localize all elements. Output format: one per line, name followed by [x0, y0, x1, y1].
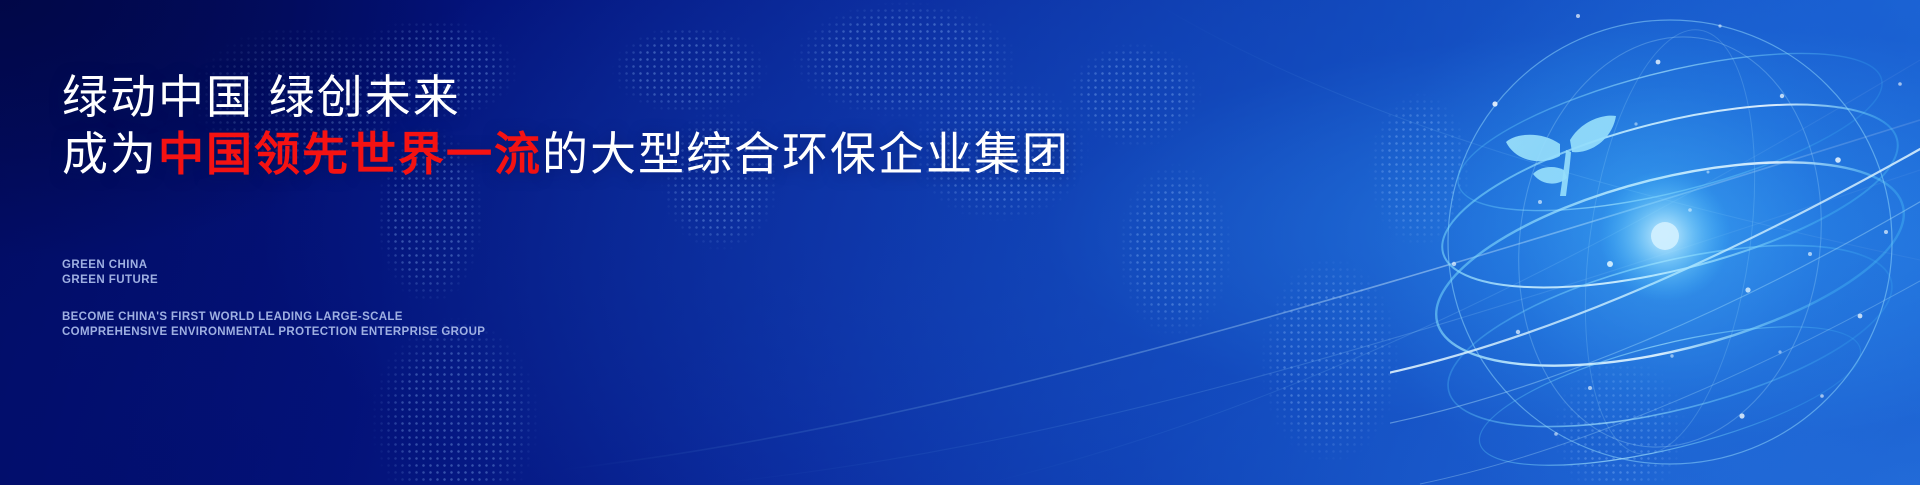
globe-core-dot	[1651, 222, 1679, 250]
globe-core-shine	[1599, 170, 1731, 302]
hero-banner: 绿动中国 绿创未来 成为中国领先世界一流的大型综合环保企业集团 GREEN CH…	[0, 0, 1920, 485]
globe-outline	[1448, 20, 1892, 464]
globe-svg	[1390, 0, 1920, 485]
english-subtitle-line-1: BECOME CHINA'S FIRST WORLD LEADING LARGE…	[62, 310, 485, 325]
english-tagline-line-1: GREEN CHINA	[62, 258, 158, 273]
headline-line-2-highlight: 中国领先世界一流	[158, 128, 542, 180]
headline-line-2-suffix: 的大型综合环保企业集团	[542, 128, 1070, 180]
globe-outer-glow	[1360, 0, 1920, 485]
english-tagline: GREEN CHINA GREEN FUTURE	[62, 258, 158, 288]
headline-line-2-prefix: 成为	[62, 128, 158, 180]
headline-line-1: 绿动中国 绿创未来	[62, 74, 1112, 120]
headline-block: 绿动中国 绿创未来 成为中国领先世界一流的大型综合环保企业集团	[62, 74, 1112, 180]
english-tagline-line-2: GREEN FUTURE	[62, 273, 158, 288]
globe-graphic	[1390, 0, 1920, 485]
english-subtitle-line-2: COMPREHENSIVE ENVIRONMENTAL PROTECTION E…	[62, 325, 485, 340]
sprout-leaf-icon	[1506, 116, 1616, 196]
headline-line-2: 成为中国领先世界一流的大型综合环保企业集团	[62, 130, 1112, 180]
globe-sphere	[1448, 20, 1892, 464]
globe-particles	[1452, 14, 1902, 436]
globe-light-arcs	[1390, 132, 1920, 484]
english-subtitle: BECOME CHINA'S FIRST WORLD LEADING LARGE…	[62, 310, 485, 340]
globe-orbit-rings	[1416, 17, 1920, 485]
